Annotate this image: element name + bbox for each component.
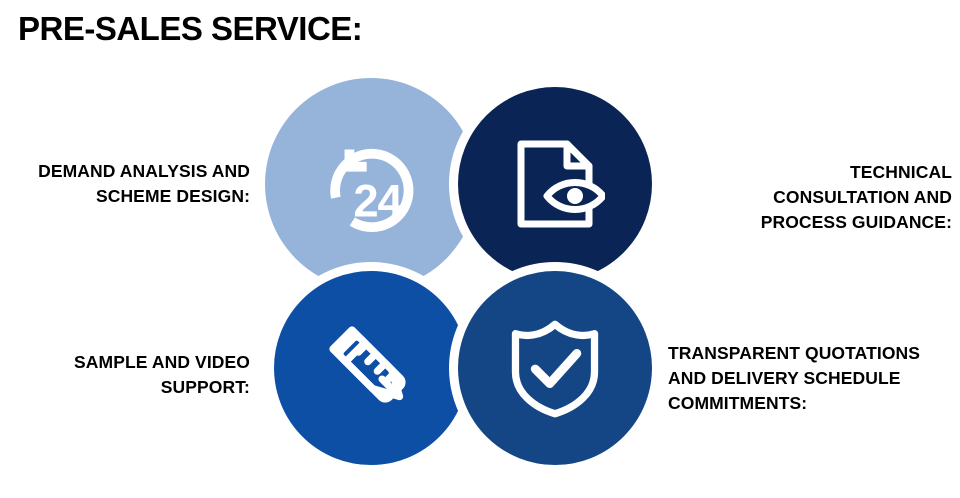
circle-technical-consultation[interactable]: [449, 78, 661, 290]
svg-text:24: 24: [353, 175, 402, 226]
pre-sales-service-infographic: PRE-SALES SERVICE: 24: [0, 0, 960, 498]
circle-sample-video[interactable]: [265, 262, 477, 474]
circle-demand-analysis[interactable]: 24: [265, 78, 477, 290]
circle-cluster: 24: [265, 78, 685, 488]
label-sample-video: SAMPLE AND VIDEO SUPPORT:: [10, 350, 250, 400]
crossed-pencil-ruler-icon: [315, 312, 427, 424]
label-technical-consultation: TECHNICAL CONSULTATION AND PROCESS GUIDA…: [727, 160, 952, 235]
clock-24-arrow-icon: 24: [317, 130, 425, 238]
page-title: PRE-SALES SERVICE:: [18, 10, 362, 48]
shield-check-icon: [503, 316, 607, 420]
label-transparent-quotations: TRANSPARENT QUOTATIONS AND DELIVERY SCHE…: [668, 341, 960, 416]
document-eye-icon: [505, 134, 605, 234]
label-demand-analysis: DEMAND ANALYSIS AND SCHEME DESIGN:: [10, 159, 250, 209]
circle-transparent-quotations[interactable]: [449, 262, 661, 474]
